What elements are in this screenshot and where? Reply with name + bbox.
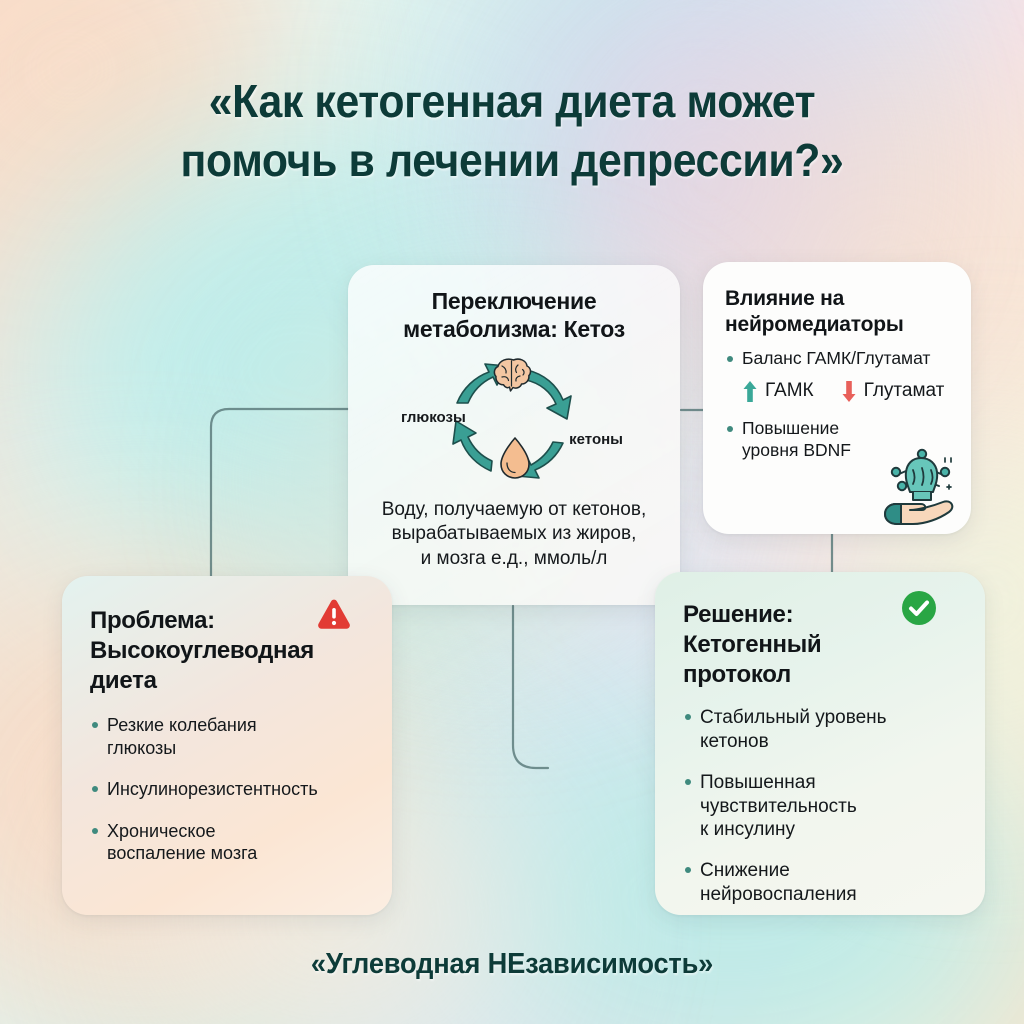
warning-triangle-icon: [316, 598, 352, 630]
card-metabolic-switch-title: Переключение метаболизма: Кетоз: [366, 287, 662, 343]
solution-bullet-list: Стабильный уровень кетонов Повышенная чу…: [683, 706, 961, 906]
hand-holding-molecule-icon: [877, 440, 963, 526]
list-item: Хроническое воспаление мозга: [90, 820, 366, 865]
neurotransmitter-arrow-row: ГАМК Глутамат: [725, 378, 951, 404]
problem-bullet-list: Резкие колебания глюкозы Инсулинорезисте…: [90, 714, 366, 865]
card-solution: Решение: Кетогенный протокол Стабильный …: [655, 572, 985, 915]
arrow-up-label: ГАМК: [765, 380, 814, 402]
card-neurotransmitters-title: Влияние на нейромедиаторы: [725, 286, 951, 337]
cycle-label-ketones: кетоны: [569, 431, 623, 448]
page-title: «Как кетогенная диета может помочь в леч…: [36, 72, 988, 190]
arrow-down-icon: [840, 378, 858, 404]
card-metabolic-switch: Переключение метаболизма: Кетоз: [348, 265, 680, 605]
list-item: Стабильный уровень кетонов: [683, 706, 961, 754]
check-circle-icon: [901, 590, 937, 626]
footer-slogan: «Углеводная НЕзависимость»: [31, 948, 994, 981]
droplet-icon: [501, 438, 529, 478]
list-item: Резкие колебания глюкозы: [90, 714, 366, 759]
cycle-label-glucose: глюкозы: [401, 409, 466, 426]
arrow-up-icon: [741, 378, 759, 404]
ketosis-cycle-diagram: глюкозы кетоны: [399, 355, 629, 490]
card-neurotransmitters: Влияние на нейромедиаторы Баланс ГАМК/Гл…: [703, 262, 971, 534]
neurotransmitter-bullet-list: Баланс ГАМК/Глутамат: [725, 348, 951, 370]
card-metabolic-switch-note: Воду, получаемую от кетонов, вырабатывае…: [366, 498, 662, 571]
list-item: Повышенная чувствительность к инсулину: [683, 771, 961, 842]
brain-icon: [494, 359, 530, 391]
list-item: Инсулинорезистентность: [90, 778, 366, 801]
arrow-down-label: Глутамат: [864, 380, 945, 402]
list-item: Баланс ГАМК/Глутамат: [725, 348, 951, 370]
infographic-canvas: «Как кетогенная диета может помочь в леч…: [0, 0, 1024, 1024]
card-problem: Проблема: Высокоуглеводная диета Резкие …: [62, 576, 392, 915]
list-item: Снижение нейровоспаления: [683, 859, 961, 907]
